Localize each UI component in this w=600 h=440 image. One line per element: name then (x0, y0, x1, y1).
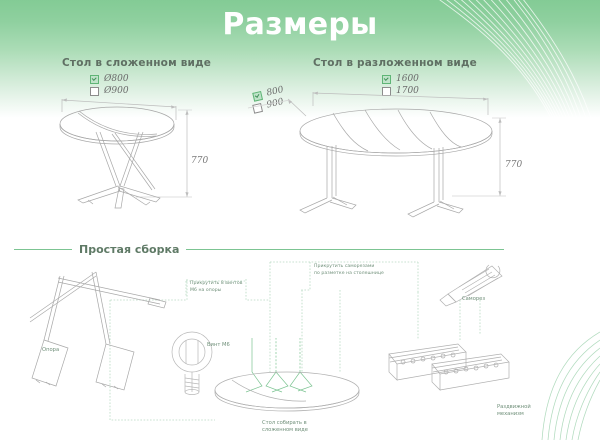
decorative-arcs-bottom-right (0, 0, 600, 440)
poster-page: Размеры Стол в сложенном виде Ø800 Ø900 (0, 0, 600, 440)
